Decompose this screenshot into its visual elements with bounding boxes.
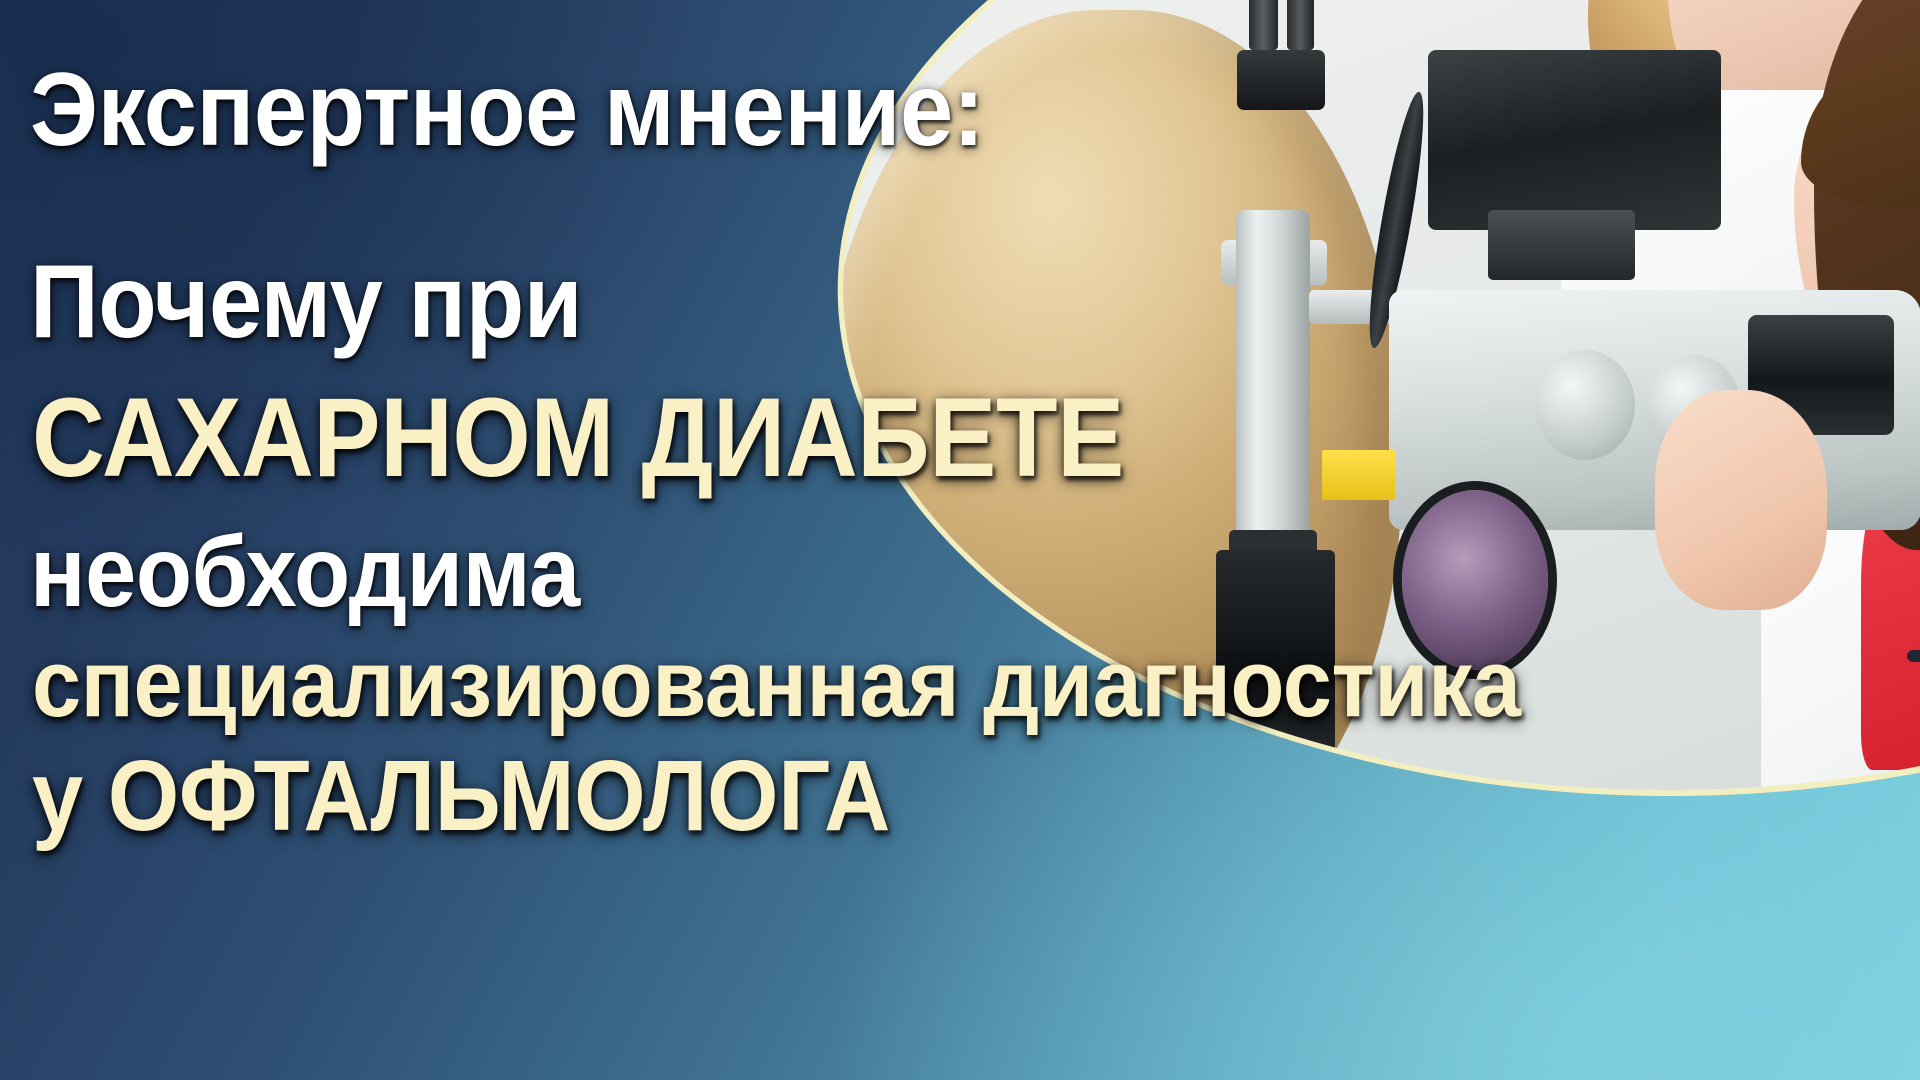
banner-root: Экспертное мнение: Почему при САХАРНОМ Д… bbox=[0, 0, 1920, 1080]
slit-lamp-post-right bbox=[1287, 0, 1314, 50]
warning-label bbox=[1322, 450, 1395, 500]
clinic-scene bbox=[790, 0, 1920, 790]
wrist-bracelet bbox=[1907, 650, 1920, 662]
headline-line-4: необходима bbox=[30, 522, 580, 622]
slit-lamp-mid-knob bbox=[1237, 50, 1325, 110]
microscope-dial-left bbox=[1535, 350, 1635, 460]
headline-line-1: Экспертное мнение: bbox=[30, 58, 984, 162]
doctor-brunette-hand bbox=[1655, 390, 1828, 610]
objective-lens bbox=[1402, 490, 1548, 670]
slit-lamp-camera bbox=[1428, 50, 1721, 230]
photo-panel bbox=[790, 0, 1920, 790]
headline-line-2: Почему при bbox=[30, 250, 582, 354]
slit-lamp-post-left bbox=[1249, 0, 1278, 50]
headline-line-6-ophthalmologist: у ОФТАЛЬМОЛОГА bbox=[32, 746, 890, 846]
illuminator-barrel bbox=[1216, 550, 1336, 790]
camera-mount-ring bbox=[1488, 210, 1634, 280]
photo-image bbox=[790, 0, 1920, 790]
